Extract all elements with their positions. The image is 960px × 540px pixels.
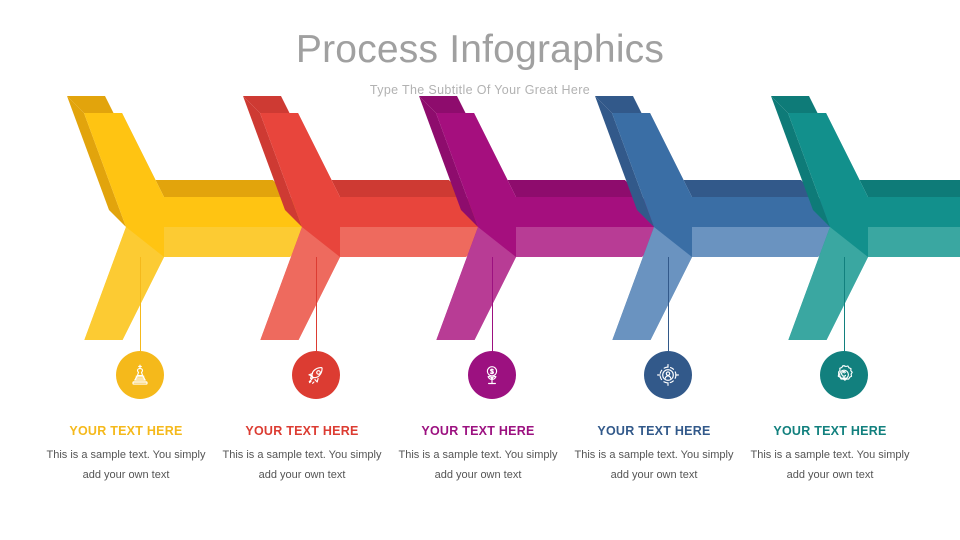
step-caption-4: YOUR TEXT HEREThis is a sample text. You… — [566, 424, 742, 486]
step-heading-1: YOUR TEXT HERE — [38, 424, 214, 438]
step-body-3: This is a sample text. You simply add yo… — [390, 445, 566, 486]
step-caption-2: YOUR TEXT HEREThis is a sample text. You… — [214, 424, 390, 486]
step-heading-4: YOUR TEXT HERE — [566, 424, 742, 438]
process-caption-row: YOUR TEXT HEREThis is a sample text. You… — [0, 0, 960, 540]
step-body-2: This is a sample text. You simply add yo… — [214, 445, 390, 486]
step-heading-5: YOUR TEXT HERE — [742, 424, 918, 438]
step-caption-3: YOUR TEXT HEREThis is a sample text. You… — [390, 424, 566, 486]
step-caption-5: YOUR TEXT HEREThis is a sample text. You… — [742, 424, 918, 486]
step-body-5: This is a sample text. You simply add yo… — [742, 445, 918, 486]
step-body-1: This is a sample text. You simply add yo… — [38, 445, 214, 486]
step-body-4: This is a sample text. You simply add yo… — [566, 445, 742, 486]
step-heading-2: YOUR TEXT HERE — [214, 424, 390, 438]
infographic-slide: Process Infographics Type The Subtitle O… — [0, 0, 960, 540]
step-heading-3: YOUR TEXT HERE — [390, 424, 566, 438]
step-caption-1: YOUR TEXT HEREThis is a sample text. You… — [38, 424, 214, 486]
